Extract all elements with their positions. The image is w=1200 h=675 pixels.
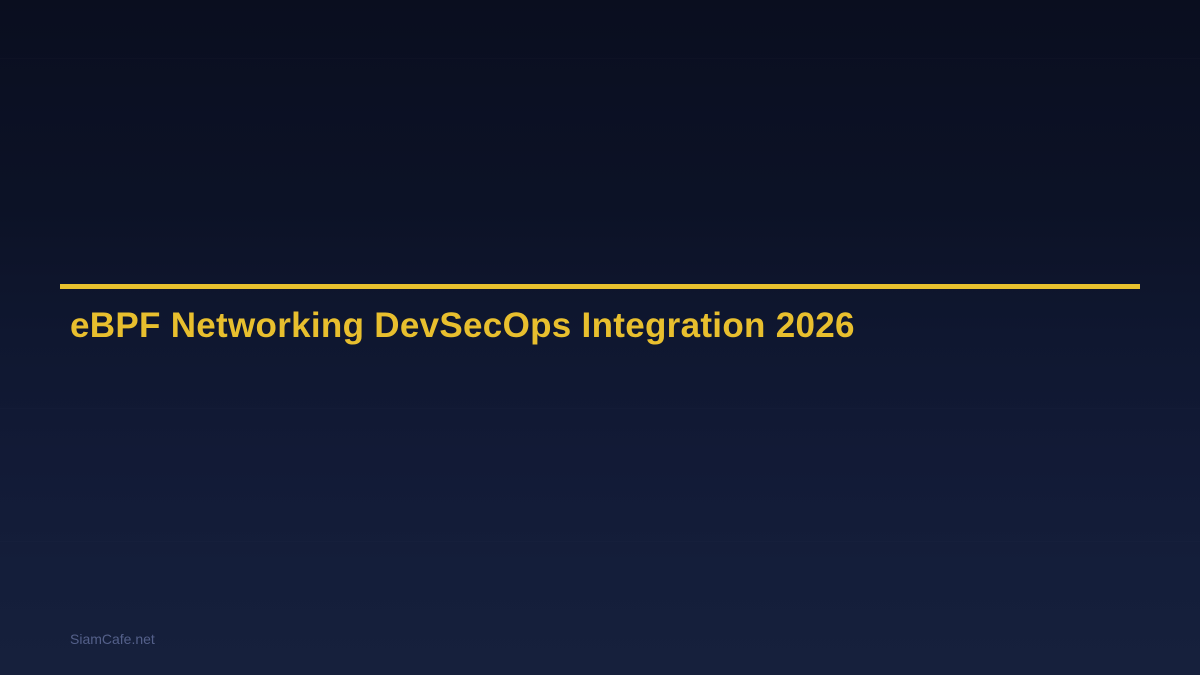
presentation-slide: eBPF Networking DevSecOps Integration 20… xyxy=(0,0,1200,675)
title-accent-rule xyxy=(60,284,1140,289)
background-band-middle xyxy=(0,408,1200,409)
background-band-upper xyxy=(0,58,1200,59)
background-band-lower xyxy=(0,541,1200,542)
footer-brand-label: SiamCafe.net xyxy=(70,630,155,648)
slide-title: eBPF Networking DevSecOps Integration 20… xyxy=(70,305,855,347)
